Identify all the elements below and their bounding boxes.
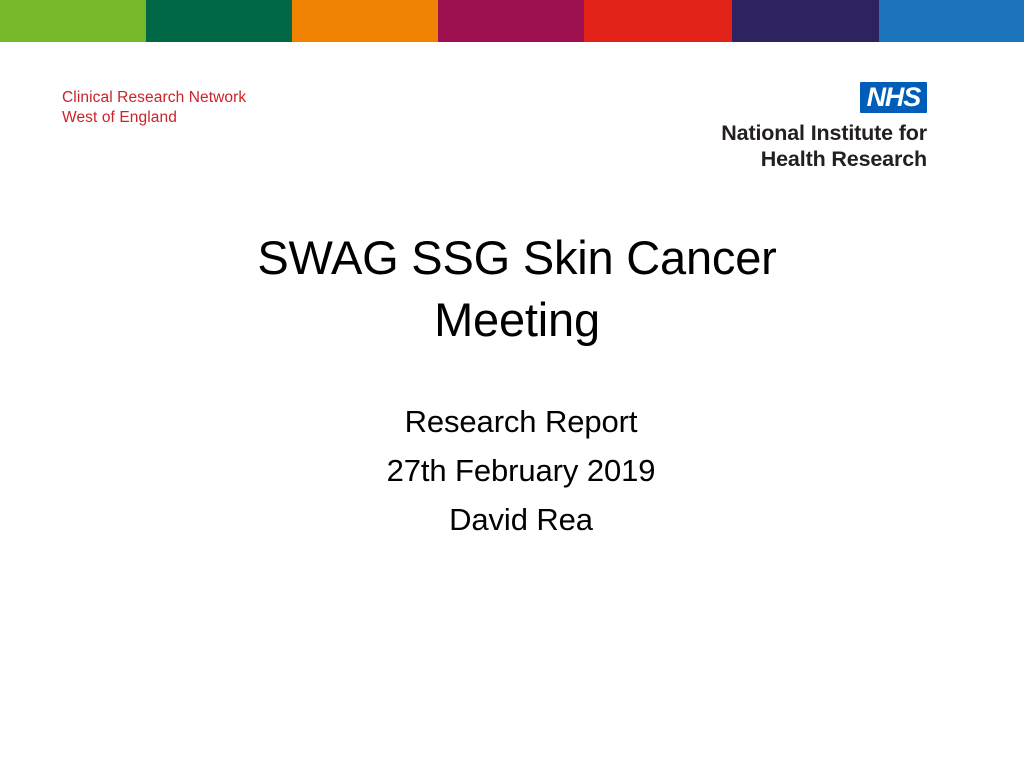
crn-logo-line-1: Clinical Research Network xyxy=(62,88,246,108)
nihr-name-line-2: Health Research xyxy=(721,146,927,172)
band-segment-dark-green xyxy=(146,0,292,42)
nihr-logo: NHS National Institute for Health Resear… xyxy=(721,82,927,173)
crn-logo-line-2: West of England xyxy=(62,108,246,128)
nihr-name-line-1: National Institute for xyxy=(721,120,927,146)
band-segment-purple xyxy=(732,0,879,42)
band-segment-green xyxy=(0,0,146,42)
nihr-name: National Institute for Health Research xyxy=(721,120,927,172)
presentation-slide: Clinical Research Network West of Englan… xyxy=(0,0,1024,768)
subtitle-line-author: David Rea xyxy=(241,496,801,545)
crn-logo: Clinical Research Network West of Englan… xyxy=(62,88,246,129)
subtitle-block: Research Report 27th February 2019 David… xyxy=(0,398,1024,545)
subtitle-line-report: Research Report xyxy=(241,398,801,447)
slide-title: SWAG SSG Skin Cancer Meeting xyxy=(207,227,827,349)
subtitle-lines: Research Report 27th February 2019 David… xyxy=(241,398,801,545)
band-segment-magenta xyxy=(438,0,584,42)
nhs-wordmark: NHS xyxy=(867,83,920,111)
brand-colour-band xyxy=(0,0,1024,42)
nhs-logo-box: NHS xyxy=(860,82,927,113)
band-segment-blue xyxy=(879,0,1024,42)
band-segment-orange xyxy=(292,0,438,42)
band-segment-red xyxy=(584,0,732,42)
title-block: SWAG SSG Skin Cancer Meeting xyxy=(0,196,1024,381)
subtitle-line-date: 27th February 2019 xyxy=(241,447,801,496)
